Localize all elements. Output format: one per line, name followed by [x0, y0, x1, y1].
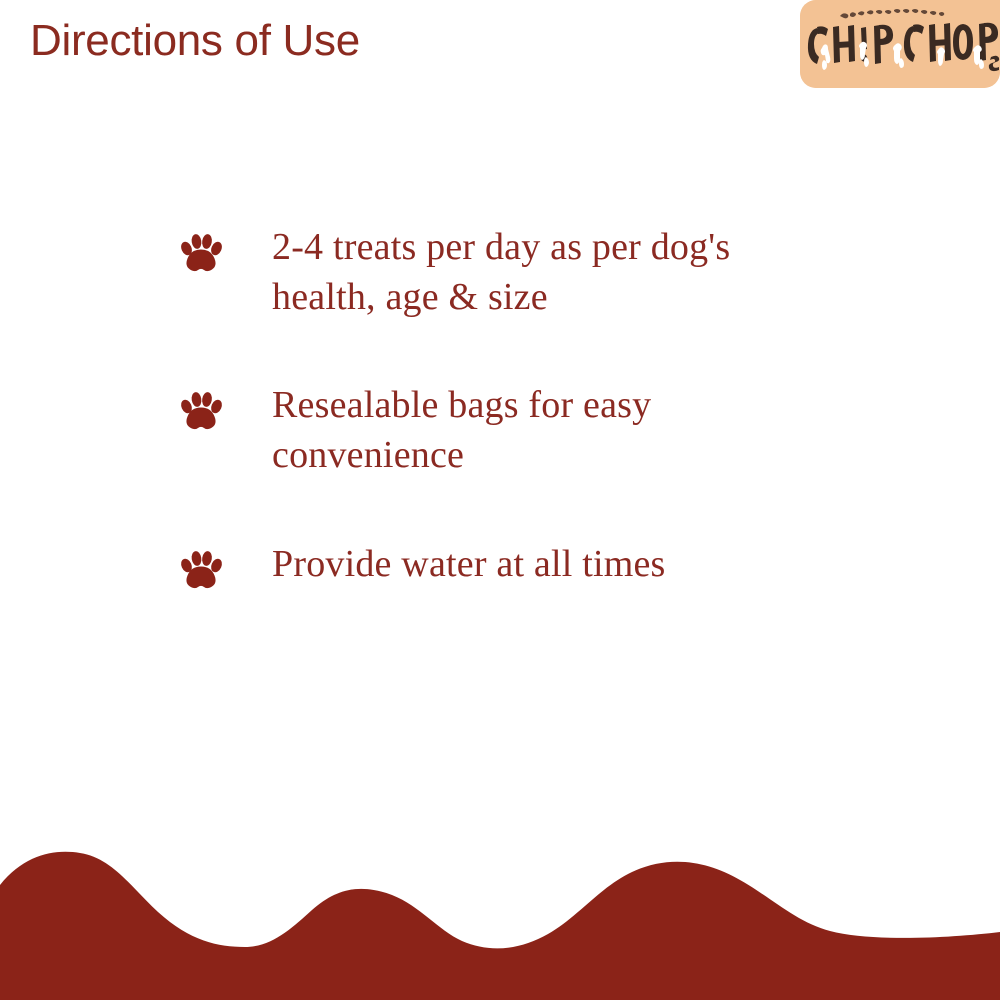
list-item: 2-4 treats per day as per dog's health, … [178, 222, 818, 322]
paw-print-icon [178, 232, 224, 274]
page-title: Directions of Use [30, 16, 360, 67]
slide-canvas: Directions of Use [0, 0, 1000, 1000]
list-item-label: 2-4 treats per day as per dog's health, … [272, 222, 818, 322]
brand-logo-badge [800, 0, 1000, 88]
directions-bullet-list: 2-4 treats per day as per dog's health, … [178, 222, 818, 591]
list-item: Provide water at all times [178, 539, 818, 591]
list-item-label: Resealable bags for easy convenience [272, 380, 818, 480]
list-item: Resealable bags for easy convenience [178, 380, 818, 480]
list-item-label: Provide water at all times [272, 539, 818, 589]
bottom-wave-decoration [0, 840, 1000, 1000]
paw-print-icon [178, 390, 224, 432]
chip-chops-logo-icon [800, 0, 1000, 88]
paw-print-icon [178, 549, 224, 591]
